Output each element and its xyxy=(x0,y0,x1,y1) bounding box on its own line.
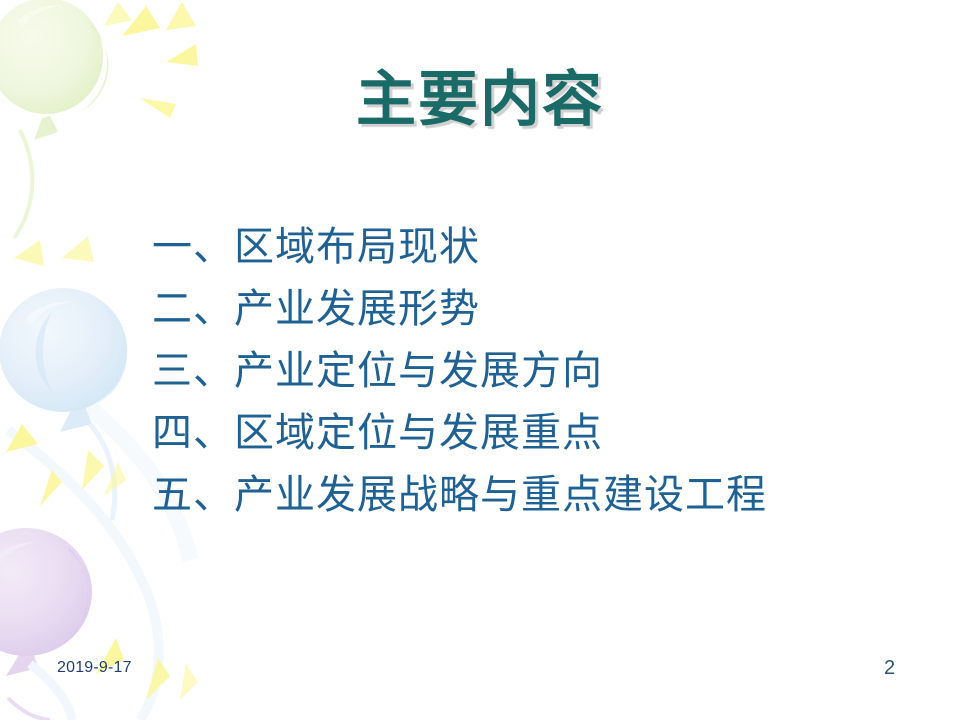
sparkle-group-middle xyxy=(6,236,126,506)
blue-balloon xyxy=(0,288,127,520)
footer-page-number: 2 xyxy=(884,657,895,680)
footer-date: 2019-9-17 xyxy=(57,659,132,677)
page-title: 主要内容 xyxy=(0,64,960,136)
list-item: 五、产业发展战略与重点建设工程 xyxy=(152,464,942,526)
purple-balloon xyxy=(0,528,92,720)
list-item: 一、区域布局现状 xyxy=(152,216,942,278)
list-item: 二、产业发展形势 xyxy=(152,278,942,340)
list-item: 三、产业定位与发展方向 xyxy=(152,340,942,402)
list-item: 四、区域定位与发展重点 xyxy=(152,402,942,464)
content-outline-list: 一、区域布局现状 二、产业发展形势 三、产业定位与发展方向 四、区域定位与发展重… xyxy=(152,216,942,526)
slide-canvas: 主要内容 一、区域布局现状 二、产业发展形势 三、产业定位与发展方向 四、区域定… xyxy=(0,0,960,720)
